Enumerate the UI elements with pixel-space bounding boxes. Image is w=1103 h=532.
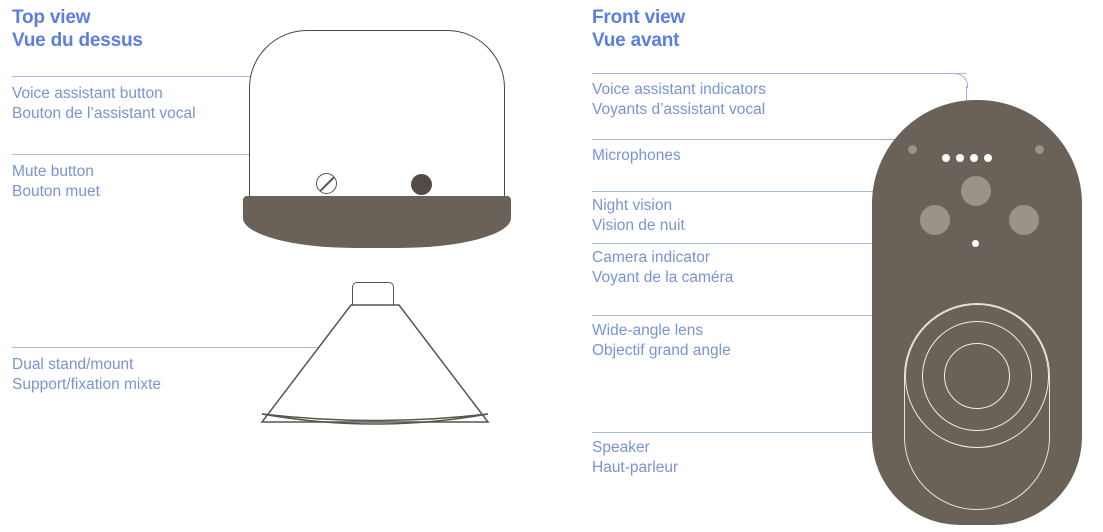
stand-top-tab: [352, 282, 394, 306]
callout-voice-assistant-indicators: Voice assistant indicators Voyants d’ass…: [592, 80, 766, 120]
voice-assistant-indicator-1: [942, 154, 950, 162]
wide-angle-lens-inner-ring: [944, 343, 1010, 409]
callout-microphones: Microphones: [592, 146, 681, 166]
night-vision-led-center: [961, 176, 991, 206]
voice-assistant-indicators-rule: [592, 73, 966, 74]
callout-wide-angle-lens-en: Wide-angle lens: [592, 322, 703, 339]
callout-voice-assistant-button-fr: Bouton de l’assistant vocal: [12, 104, 196, 124]
dual-stand-mount-illustration: [260, 282, 490, 447]
callout-microphones-en: Microphones: [592, 147, 681, 164]
callout-dual-stand-mount: Dual stand/mount Support/fixation mixte: [12, 355, 161, 395]
voice-assistant-button-icon[interactable]: [411, 174, 432, 195]
mute-button-icon[interactable]: [316, 173, 337, 194]
night-vision-led-left: [920, 205, 950, 235]
device-base-band: [243, 196, 511, 248]
speaker-rule: [592, 432, 872, 433]
callout-voice-assistant-button-en: Voice assistant button: [12, 85, 163, 102]
top-view-heading-en: Top view: [12, 7, 90, 28]
callout-mute-button-en: Mute button: [12, 163, 94, 180]
top-view-panel: Top view Vue du dessus Voice assistant b…: [0, 0, 560, 532]
callout-voice-assistant-indicators-en: Voice assistant indicators: [592, 81, 766, 98]
microphone-left-dot: [908, 145, 917, 154]
top-view-heading-fr: Vue du dessus: [12, 29, 143, 52]
callout-night-vision-en: Night vision: [592, 197, 672, 214]
callout-voice-assistant-indicators-fr: Voyants d’assistant vocal: [592, 100, 766, 120]
callout-wide-angle-lens: Wide-angle lens Objectif grand angle: [592, 321, 731, 361]
callout-camera-indicator-fr: Voyant de la caméra: [592, 268, 733, 288]
camera-indicator-dot: [972, 240, 979, 247]
voice-assistant-indicator-3: [970, 154, 978, 162]
callout-voice-assistant-button: Voice assistant button Bouton de l’assis…: [12, 84, 196, 124]
callout-camera-indicator: Camera indicator Voyant de la caméra: [592, 248, 733, 288]
wide-angle-lens-rule: [592, 315, 872, 316]
top-view-device-illustration: [243, 30, 513, 245]
microphone-right-dot: [1035, 145, 1044, 154]
callout-speaker: Speaker Haut-parleur: [592, 438, 678, 478]
top-view-heading: Top view Vue du dessus: [12, 6, 143, 52]
callout-night-vision: Night vision Vision de nuit: [592, 196, 685, 236]
callout-mute-button: Mute button Bouton muet: [12, 162, 100, 202]
front-view-device-illustration: [872, 100, 1082, 525]
callout-dual-stand-mount-fr: Support/fixation mixte: [12, 375, 161, 395]
callout-speaker-en: Speaker: [592, 439, 650, 456]
night-vision-rule: [592, 191, 872, 192]
callout-wide-angle-lens-fr: Objectif grand angle: [592, 341, 731, 361]
microphones-rule: [592, 139, 892, 140]
front-view-heading-en: Front view: [592, 7, 685, 28]
front-view-heading-fr: Vue avant: [592, 29, 685, 52]
camera-indicator-rule: [592, 243, 872, 244]
device-dome-shell: [249, 30, 505, 212]
stand-cone-shape: [260, 304, 490, 426]
callout-dual-stand-mount-en: Dual stand/mount: [12, 356, 134, 373]
callout-night-vision-fr: Vision de nuit: [592, 216, 685, 236]
night-vision-led-right: [1009, 205, 1039, 235]
stand-base-rim: [261, 412, 489, 432]
voice-assistant-indicator-4: [984, 154, 992, 162]
callout-camera-indicator-en: Camera indicator: [592, 249, 710, 266]
front-view-heading: Front view Vue avant: [592, 6, 685, 52]
callout-mute-button-fr: Bouton muet: [12, 182, 100, 202]
front-view-panel: Front view Vue avant Voice assistant ind…: [580, 0, 1103, 532]
callout-speaker-fr: Haut-parleur: [592, 458, 678, 478]
voice-assistant-indicator-2: [956, 154, 964, 162]
